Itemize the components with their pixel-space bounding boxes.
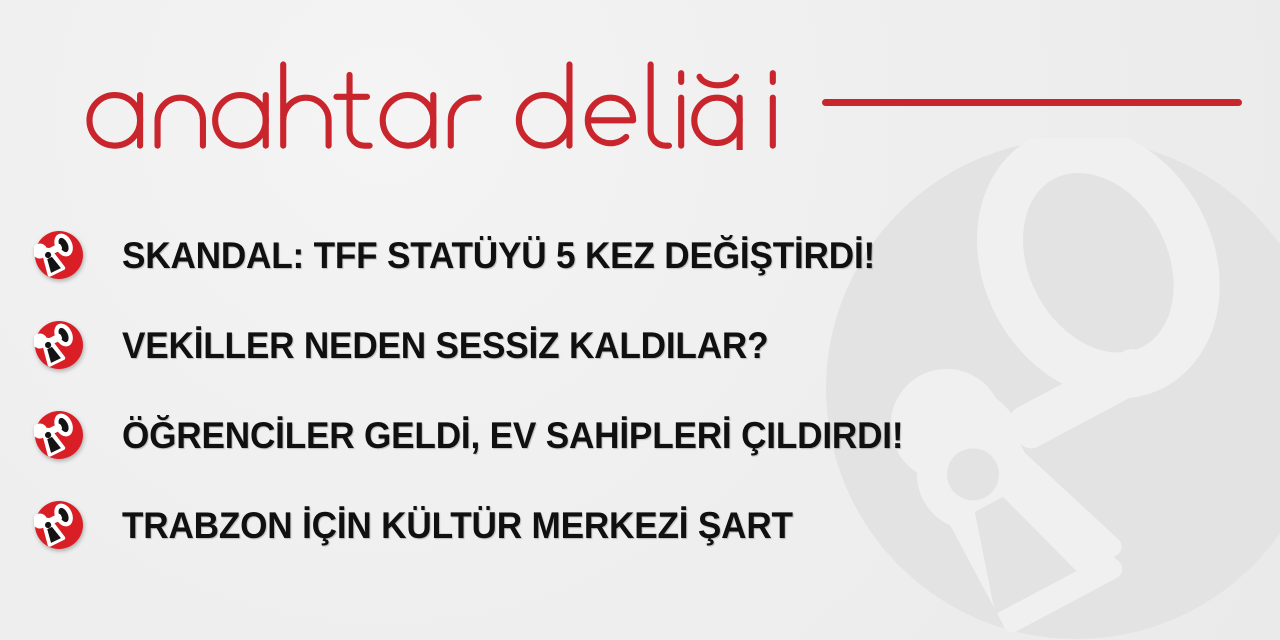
logo-divider-rule: [822, 99, 1242, 106]
headline-text: ÖĞRENCİLER GELDİ, EV SAHİPLERİ ÇILDIRDI!: [122, 417, 903, 454]
headline-item[interactable]: TRABZON İÇİN KÜLTÜR MERKEZİ ŞART: [34, 480, 1134, 570]
headline-text: VEKİLLER NEDEN SESSİZ KALDILAR?: [122, 327, 768, 364]
headline-list: SKANDAL: TFF STATÜYÜ 5 KEZ DEĞİŞTİRDİ! V: [34, 210, 1134, 570]
keyhole-bullet-icon: [34, 320, 84, 370]
brand-logo[interactable]: [42, 52, 1242, 152]
keyhole-bullet-icon: [34, 410, 84, 460]
headline-text: SKANDAL: TFF STATÜYÜ 5 KEZ DEĞİŞTİRDİ!: [122, 237, 875, 274]
headline-text: TRABZON İÇİN KÜLTÜR MERKEZİ ŞART: [122, 507, 793, 544]
headline-item[interactable]: ÖĞRENCİLER GELDİ, EV SAHİPLERİ ÇILDIRDI!: [34, 390, 1134, 480]
keyhole-bullet-icon: [34, 500, 84, 550]
promo-banner: SKANDAL: TFF STATÜYÜ 5 KEZ DEĞİŞTİRDİ! V: [0, 0, 1280, 640]
brand-wordmark: [42, 54, 788, 150]
headline-item[interactable]: VEKİLLER NEDEN SESSİZ KALDILAR?: [34, 300, 1134, 390]
keyhole-bullet-icon: [34, 230, 84, 280]
headline-item[interactable]: SKANDAL: TFF STATÜYÜ 5 KEZ DEĞİŞTİRDİ!: [34, 210, 1134, 300]
